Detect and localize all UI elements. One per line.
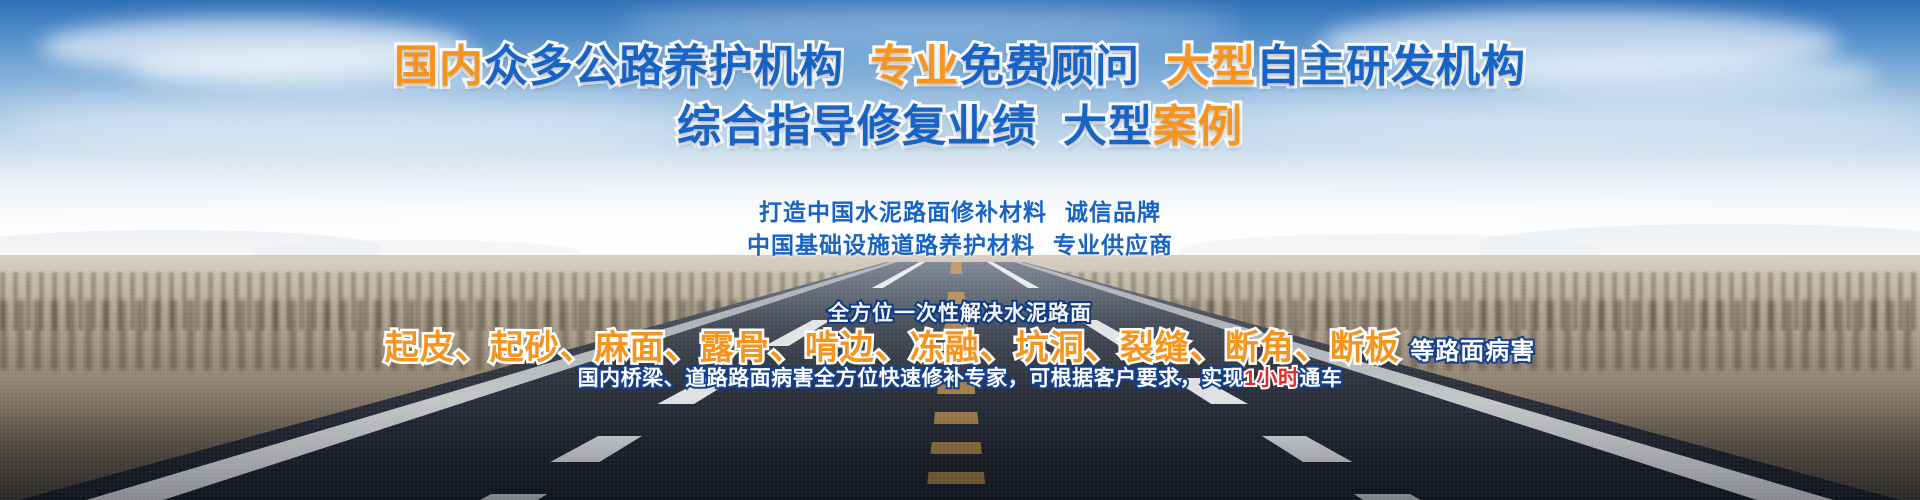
headline-seg-guonei: 国内	[394, 40, 484, 94]
promo-banner: 国内众多公路养护机构专业免费顾问大型自主研发机构 综合指导修复业绩大型案例 打造…	[0, 0, 1920, 500]
text-layer: 国内众多公路养护机构专业免费顾问大型自主研发机构 综合指导修复业绩大型案例 打造…	[0, 0, 1920, 500]
subhead-supplier-badge: 专业供应商	[1053, 232, 1173, 258]
headline-line-1: 国内众多公路养护机构专业免费顾问大型自主研发机构	[0, 40, 1920, 94]
road-defects-suffix: 等路面病害	[1410, 338, 1535, 365]
subhead-brand-text: 打造中国水泥路面修补材料	[759, 199, 1047, 225]
headline-line-2: 综合指导修复业绩大型案例	[0, 100, 1920, 154]
road-footer-text-b: 通车	[1299, 367, 1342, 390]
road-footer-text-a: 国内桥梁、道路路面病害全方位快速修补专家，可根据客户要求，实现	[578, 367, 1245, 390]
headline-seg-daxing: 大型	[1166, 40, 1256, 94]
subhead-infra-text: 中国基础设施道路养护材料	[747, 232, 1035, 258]
subhead-line-2: 中国基础设施道路养护材料专业供应商	[0, 226, 1920, 260]
road-footer-hour: 1小时	[1244, 367, 1299, 390]
headline-seg-zonghe: 综合指导修复业绩	[677, 100, 1037, 154]
headline-seg-zhongduo: 众多公路养护机构	[484, 40, 844, 94]
headline-seg-anli: 案例	[1153, 100, 1243, 154]
subhead-brand-badge: 诚信品牌	[1065, 199, 1161, 225]
headline-seg-mianfei: 免费顾问	[960, 40, 1140, 94]
headline-seg-zhuanye: 专业	[870, 40, 960, 94]
subhead-line-1: 打造中国水泥路面修补材料诚信品牌	[0, 193, 1920, 227]
road-footer-line: 国内桥梁、道路路面病害全方位快速修补专家，可根据客户要求，实现1小时通车	[0, 362, 1920, 392]
headline-seg-daxing2: 大型	[1063, 100, 1153, 154]
headline-seg-zizhu: 自主研发机构	[1256, 40, 1526, 94]
